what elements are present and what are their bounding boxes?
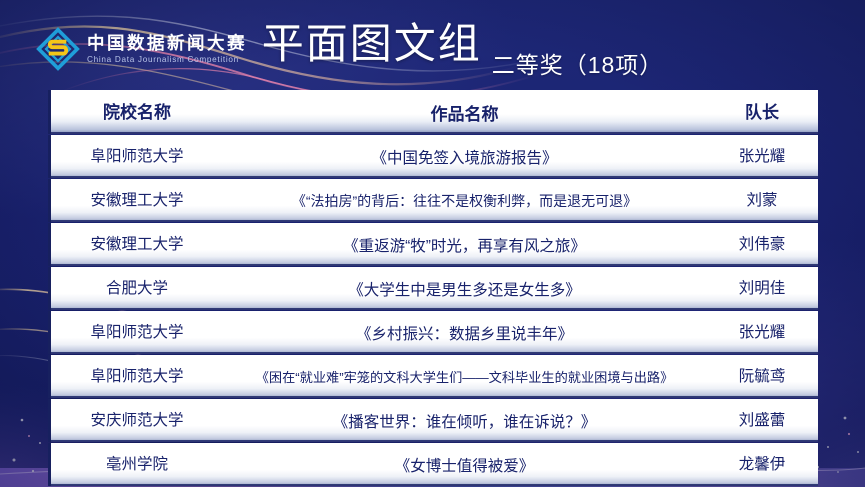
title-block: 平面图文组 二等奖（18项） <box>0 0 865 88</box>
cell-leader: 龙馨伊 <box>706 443 818 486</box>
table-row: 亳州学院《女博士值得被爱》龙馨伊 <box>48 443 818 486</box>
cell-work: 《中国免签入境旅游报告》 <box>223 135 706 178</box>
table-row: 阜阳师范大学《乡村振兴：数据乡里说丰年》张光耀 <box>48 311 818 354</box>
cell-leader: 刘明佳 <box>706 267 818 310</box>
award-table: 院校名称 作品名称 队长 阜阳师范大学《中国免签入境旅游报告》张光耀安徽理工大学… <box>48 90 818 487</box>
column-header-school: 院校名称 <box>51 90 223 134</box>
page-subtitle: 二等奖（18项） <box>492 46 664 88</box>
cell-leader: 刘伟豪 <box>706 223 818 266</box>
cell-leader: 阮毓鸢 <box>706 355 818 398</box>
cell-school: 合肥大学 <box>51 267 223 310</box>
table-body: 阜阳师范大学《中国免签入境旅游报告》张光耀安徽理工大学《“法拍房”的背后：往往不… <box>48 135 818 487</box>
table-row: 安徽理工大学《“法拍房”的背后：往往不是权衡利弊，而是退无可退》刘蒙 <box>48 179 818 222</box>
table-row: 阜阳师范大学《困在“就业难”牢笼的文科大学生们——文科毕业生的就业困境与出路》阮… <box>48 355 818 398</box>
cell-work: 《大学生中是男生多还是女生多》 <box>223 267 706 310</box>
cell-school: 亳州学院 <box>51 443 223 486</box>
column-header-leader: 队长 <box>706 90 818 134</box>
table-row: 合肥大学《大学生中是男生多还是女生多》刘明佳 <box>48 267 818 310</box>
column-header-work: 作品名称 <box>223 90 706 134</box>
cell-work: 《播客世界：谁在倾听，谁在诉说？》 <box>223 399 706 442</box>
table-row: 安徽理工大学《重返游“牧”时光，再享有风之旅》刘伟豪 <box>48 223 818 266</box>
cell-work: 《困在“就业难”牢笼的文科大学生们——文科毕业生的就业困境与出路》 <box>223 355 706 398</box>
table-row: 阜阳师范大学《中国免签入境旅游报告》张光耀 <box>48 135 818 178</box>
page-title: 平面图文组 <box>262 23 482 65</box>
cell-leader: 刘蒙 <box>706 179 818 222</box>
table-row: 安庆师范大学《播客世界：谁在倾听，谁在诉说？》刘盛蕾 <box>48 399 818 442</box>
cell-leader: 张光耀 <box>706 311 818 354</box>
cell-school: 安徽理工大学 <box>51 179 223 222</box>
cell-leader: 刘盛蕾 <box>706 399 818 442</box>
cell-work: 《重返游“牧”时光，再享有风之旅》 <box>223 223 706 266</box>
cell-school: 安徽理工大学 <box>51 223 223 266</box>
cell-leader: 张光耀 <box>706 135 818 178</box>
cell-work: 《“法拍房”的背后：往往不是权衡利弊，而是退无可退》 <box>223 179 706 222</box>
cell-school: 阜阳师范大学 <box>51 355 223 398</box>
cell-school: 安庆师范大学 <box>51 399 223 442</box>
cell-school: 阜阳师范大学 <box>51 311 223 354</box>
cell-school: 阜阳师范大学 <box>51 135 223 178</box>
slide-header: 中国数据新闻大赛 China Data Journalism Competiti… <box>0 0 865 88</box>
cell-work: 《女博士值得被爱》 <box>223 443 706 486</box>
table-header-row: 院校名称 作品名称 队长 <box>48 90 818 134</box>
cell-work: 《乡村振兴：数据乡里说丰年》 <box>223 311 706 354</box>
